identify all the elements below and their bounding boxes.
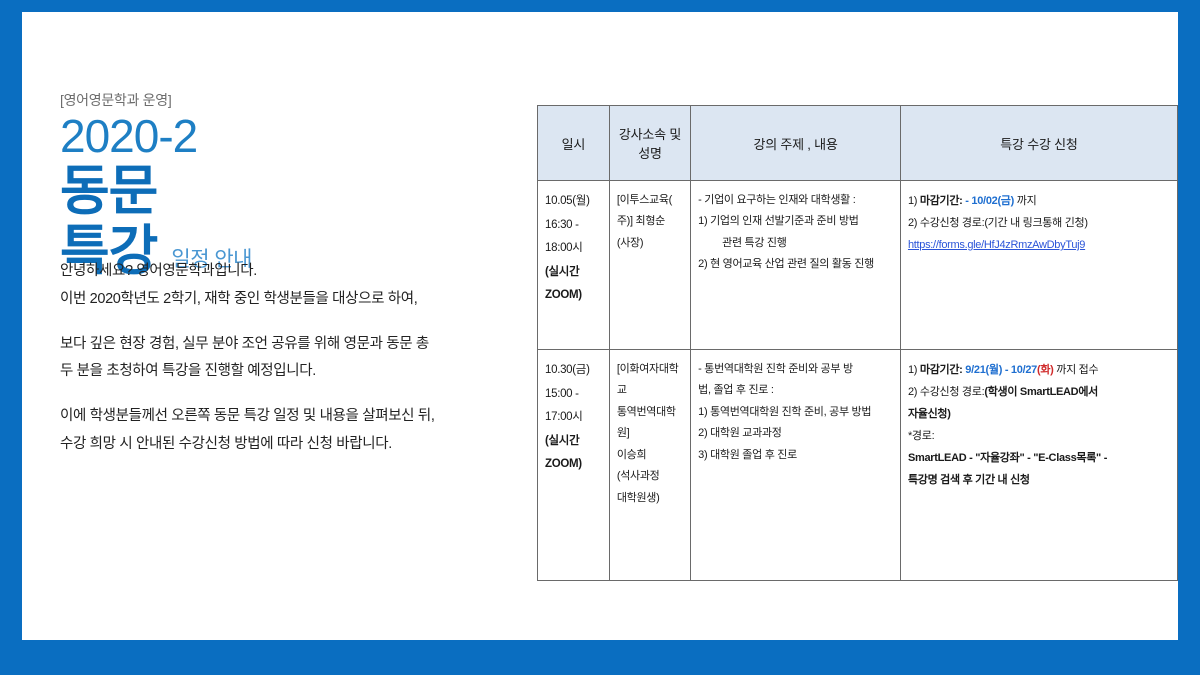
row2-affiliation-line2: 교	[617, 380, 683, 401]
row1-topic-item2: 2) 현 영어교육 산업 관련 질의 활동 진행	[698, 254, 893, 275]
schedule-table: 일시 강사소속 및 성명 강의 주제 , 내용 특강 수강 신청 10.05(월…	[537, 105, 1178, 581]
row2-apply-route-value: (학생이 SmartLEAD에서	[984, 386, 1098, 398]
row2-mode-line1: (실시간	[545, 430, 602, 454]
row1-topic-item1: 1) 기업의 인재 선발기준과 준비 방법	[698, 211, 893, 232]
row1-lecturer-cell: [이투스교육( 주)] 최형순 (사장)	[609, 181, 690, 350]
header-topic: 강의 주제 , 내용	[691, 106, 901, 181]
google-form-link[interactable]: https://forms.gle/HfJ4zRmzAwDbyTuj9	[908, 239, 1085, 251]
row2-date: 10.30(금)	[545, 359, 602, 383]
intro-p2-line1: 보다 깊은 현장 경험, 실무 분야 조언 공유를 위해 영문과 동문 총	[60, 331, 530, 359]
row1-deadline-number: 1)	[908, 195, 920, 207]
header-lecturer: 강사소속 및 성명	[609, 106, 690, 181]
row2-topic-item1: 1) 통역번역대학원 진학 준비, 공부 방법	[698, 402, 893, 423]
intro-p2-line2: 두 분을 초청하여 특강을 진행할 예정입니다.	[60, 358, 530, 386]
row2-path-label: *경로:	[908, 425, 1170, 447]
row2-deadline-range: 9/21(월) - 10/27	[963, 364, 1037, 376]
row1-deadline-suffix: 까지	[1014, 195, 1036, 207]
intro-p3-line2: 수강 희망 시 안내된 수강신청 방법에 따라 신청 바랍니다.	[60, 431, 530, 459]
row1-topic-cell: - 기업이 요구하는 인재와 대학생활 : 1) 기업의 인재 선발기준과 준비…	[691, 181, 901, 350]
table-header-row: 일시 강사소속 및 성명 강의 주제 , 내용 특강 수강 신청	[538, 106, 1178, 181]
row2-position-line2: 대학원생)	[617, 488, 683, 509]
row2-topic-cell: - 통번역대학원 진학 준비와 공부 방 법, 졸업 후 진로 : 1) 통역번…	[691, 350, 901, 581]
row2-path-steps: SmartLEAD - "자율강좌" - "E-Class목록" -	[908, 447, 1170, 469]
row2-date-cell: 10.30(금) 15:00 - 17:00시 (실시간 ZOOM)	[538, 350, 610, 581]
row1-time-end: 18:00시	[545, 237, 602, 261]
schedule-table-wrapper: 일시 강사소속 및 성명 강의 주제 , 내용 특강 수강 신청 10.05(월…	[537, 105, 1178, 581]
row2-deadline-label: 마감기간:	[920, 364, 963, 376]
row2-topic-heading2: 법, 졸업 후 진로 :	[698, 380, 893, 401]
header-date: 일시	[538, 106, 610, 181]
intro-p3-line1: 이에 학생분들께선 오른쪽 동문 특강 일정 및 내용을 살펴보신 뒤,	[60, 403, 530, 431]
row2-path-final: 특강명 검색 후 기간 내 신청	[908, 469, 1170, 491]
slide-canvas: [영어영문학과 운영] 2020-2 동문 특강 일정 안내 안녕하세요? 영어…	[0, 0, 1200, 675]
department-tag: [영어영문학과 운영]	[60, 90, 510, 110]
row2-apply-route-line: 2) 수강신청 경로:(학생이 SmartLEAD에서	[908, 381, 1170, 403]
row2-affiliation-line1: [이화여자대학	[617, 359, 683, 380]
row2-apply-cell: 1) 마감기간: 9/21(월) - 10/27(화) 까지 접수 2) 수강신…	[900, 350, 1177, 581]
row2-time-end: 17:00시	[545, 406, 602, 430]
row1-mode-line2: ZOOM)	[545, 284, 602, 308]
white-content-area: [영어영문학과 운영] 2020-2 동문 특강 일정 안내 안녕하세요? 영어…	[22, 12, 1178, 640]
intro-p1-line2: 이번 2020학년도 2학기, 재학 중인 학생분들을 대상으로 하여,	[60, 286, 530, 314]
header-apply: 특강 수강 신청	[900, 106, 1177, 181]
year-term: 2020-2	[60, 112, 510, 161]
intro-paragraphs: 안녕하세요? 영어영문학과입니다. 이번 2020학년도 2학기, 재학 중인 …	[60, 258, 530, 459]
paragraph-gap-1	[60, 314, 530, 331]
header-lecturer-line1: 강사소속 및	[617, 124, 683, 143]
row1-apply-route: 2) 수강신청 경로:(기간 내 링크통해 긴청)	[908, 212, 1170, 234]
row1-topic-item1-cont: 관련 특강 진행	[698, 233, 786, 254]
row2-apply-route-label: 2) 수강신청 경로:	[908, 386, 984, 398]
row2-deadline-suffix: 까지 접수	[1054, 364, 1099, 376]
row2-topic-heading1: - 통번역대학원 진학 준비와 공부 방	[698, 359, 893, 380]
row1-deadline-line: 1) 마감기간: - 10/02(금) 까지	[908, 190, 1170, 212]
row2-deadline-day-marker: (화)	[1037, 364, 1054, 376]
intro-p1-line1: 안녕하세요? 영어영문학과입니다.	[60, 258, 530, 286]
row2-name: 이승희	[617, 445, 683, 466]
row1-time-start: 16:30 -	[545, 214, 602, 238]
paragraph-gap-2	[60, 386, 530, 403]
header-lecturer-line2: 성명	[617, 143, 683, 162]
row1-apply-cell: 1) 마감기간: - 10/02(금) 까지 2) 수강신청 경로:(기간 내 …	[900, 181, 1177, 350]
row2-lecturer-cell: [이화여자대학 교 통역번역대학 원] 이승희 (석사과정 대학원생)	[609, 350, 690, 581]
row1-deadline-date: - 10/02(금)	[963, 195, 1014, 207]
row2-affiliation-line3: 통역번역대학	[617, 402, 683, 423]
title-line-1: 동문	[60, 161, 510, 221]
table-row: 10.30(금) 15:00 - 17:00시 (실시간 ZOOM) [이화여자…	[538, 350, 1178, 581]
row1-apply-link-wrap[interactable]: https://forms.gle/HfJ4zRmzAwDbyTuj9	[908, 234, 1170, 256]
row2-affiliation-line4: 원]	[617, 423, 683, 444]
row1-deadline-label: 마감기간:	[920, 195, 963, 207]
row1-affiliation-line2: 주)] 최형순	[617, 211, 683, 232]
row2-topic-item3: 3) 대학원 졸업 후 진로	[698, 445, 893, 466]
row2-deadline-number: 1)	[908, 364, 920, 376]
row2-deadline-line: 1) 마감기간: 9/21(월) - 10/27(화) 까지 접수	[908, 359, 1170, 381]
row1-position: (사장)	[617, 233, 683, 254]
title-block: [영어영문학과 운영] 2020-2 동문 특강 일정 안내	[60, 90, 510, 282]
row2-apply-route-cont: 자율신청)	[908, 403, 1170, 425]
row1-topic-heading: - 기업이 요구하는 인재와 대학생활 :	[698, 190, 893, 211]
table-row: 10.05(월) 16:30 - 18:00시 (실시간 ZOOM) [이투스교…	[538, 181, 1178, 350]
row1-date: 10.05(월)	[545, 190, 602, 214]
row2-time-start: 15:00 -	[545, 383, 602, 407]
row1-mode-line1: (실시간	[545, 261, 602, 285]
row1-date-cell: 10.05(월) 16:30 - 18:00시 (실시간 ZOOM)	[538, 181, 610, 350]
row1-affiliation-line1: [이투스교육(	[617, 190, 683, 211]
row2-topic-item2: 2) 대학원 교과과정	[698, 423, 893, 444]
row2-position-line1: (석사과정	[617, 466, 683, 487]
row2-mode-line2: ZOOM)	[545, 453, 602, 477]
